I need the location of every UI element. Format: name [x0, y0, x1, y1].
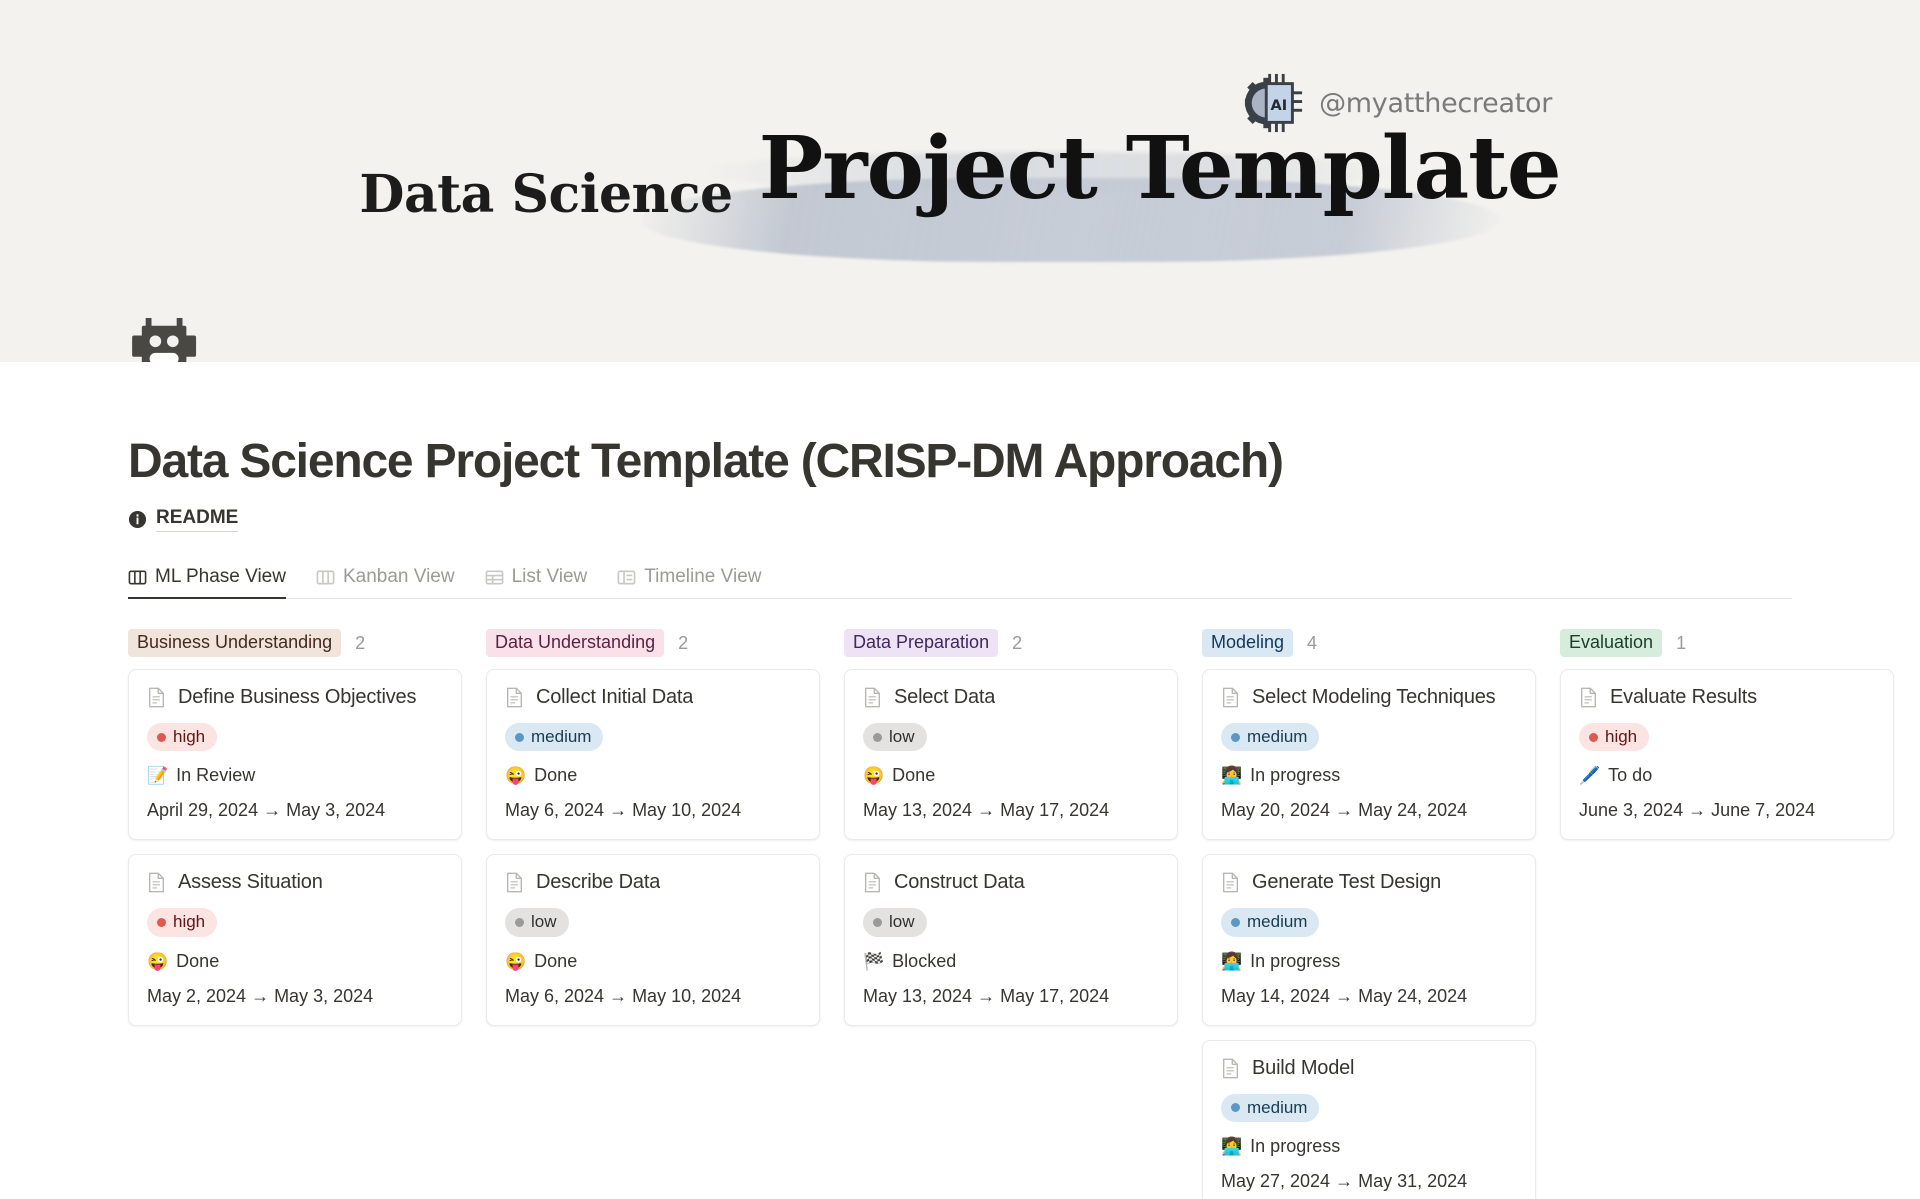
date-range[interactable]: May 6, 2024 → May 10, 2024 — [505, 800, 801, 821]
status-label: In Review — [176, 765, 255, 786]
document-icon — [1579, 687, 1598, 708]
date-range[interactable]: June 3, 2024 → June 7, 2024 — [1579, 800, 1875, 821]
status-emoji-icon: 🏁 — [863, 953, 884, 970]
robot-icon — [128, 318, 206, 362]
priority-dot-icon — [873, 918, 882, 927]
column-name-chip[interactable]: Business Understanding — [128, 629, 341, 657]
readme-label: README — [156, 507, 238, 532]
tab-label: Kanban View — [343, 566, 455, 588]
timeline-icon — [617, 568, 636, 587]
column-card-count: 4 — [1307, 633, 1317, 654]
date-range[interactable]: May 13, 2024 → May 17, 2024 — [863, 800, 1159, 821]
task-card[interactable]: Construct Datalow🏁BlockedMay 13, 2024 → … — [844, 854, 1178, 1025]
document-icon — [147, 872, 166, 893]
task-card[interactable]: Describe Datalow😜DoneMay 6, 2024 → May 1… — [486, 854, 820, 1025]
priority-dot-icon — [1231, 733, 1240, 742]
date-range[interactable]: May 6, 2024 → May 10, 2024 — [505, 986, 801, 1007]
task-card[interactable]: Build Modelmedium👩‍💻In progressMay 27, 2… — [1202, 1040, 1536, 1199]
task-title: Describe Data — [536, 871, 660, 894]
board-column: Data Preparation2Select Datalow😜DoneMay … — [844, 629, 1178, 1040]
priority-label: medium — [1247, 912, 1307, 932]
tab-label: List View — [512, 566, 588, 588]
status-row[interactable]: 👩‍💻In progress — [1221, 1136, 1517, 1157]
priority-label: low — [531, 912, 557, 932]
status-emoji-icon: 🖊️ — [1579, 767, 1600, 784]
priority-badge[interactable]: medium — [1221, 1094, 1319, 1122]
task-card-title-row: Select Data — [863, 686, 1159, 709]
task-card-title-row: Assess Situation — [147, 871, 443, 894]
task-card-title-row: Select Modeling Techniques — [1221, 686, 1517, 709]
task-title: Construct Data — [894, 871, 1025, 894]
date-range[interactable]: May 13, 2024 → May 17, 2024 — [863, 986, 1159, 1007]
status-emoji-icon: 👩‍💻 — [1221, 767, 1242, 784]
priority-dot-icon — [157, 733, 166, 742]
column-header: Data Understanding2 — [486, 629, 820, 657]
status-emoji-icon: 📝 — [147, 767, 168, 784]
priority-badge[interactable]: medium — [1221, 723, 1319, 751]
document-icon — [863, 872, 882, 893]
priority-dot-icon — [157, 918, 166, 927]
info-icon — [128, 510, 147, 529]
page-icon[interactable] — [128, 318, 206, 362]
task-card[interactable]: Collect Initial Datamedium😜DoneMay 6, 20… — [486, 669, 820, 840]
task-card-title-row: Evaluate Results — [1579, 686, 1875, 709]
task-card[interactable]: Generate Test Designmedium👩‍💻In progress… — [1202, 854, 1536, 1025]
priority-badge[interactable]: low — [863, 723, 927, 751]
task-card[interactable]: Assess Situationhigh😜DoneMay 2, 2024 → M… — [128, 854, 462, 1025]
task-title: Assess Situation — [178, 871, 323, 894]
task-card-title-row: Construct Data — [863, 871, 1159, 894]
svg-text:AI: AI — [1271, 98, 1288, 114]
priority-label: high — [173, 727, 205, 747]
date-range[interactable]: May 2, 2024 → May 3, 2024 — [147, 986, 443, 1007]
status-emoji-icon: 👩‍💻 — [1221, 1138, 1242, 1155]
status-row[interactable]: 🖊️To do — [1579, 765, 1875, 786]
task-title: Select Data — [894, 686, 995, 709]
board-column: Evaluation1Evaluate Resultshigh🖊️To doJu… — [1560, 629, 1894, 854]
page-cover-banner: AI @myatthecreator Data ScienceProject T… — [0, 0, 1920, 362]
column-name-chip[interactable]: Modeling — [1202, 629, 1293, 657]
column-header: Evaluation1 — [1560, 629, 1894, 657]
status-emoji-icon: 😜 — [505, 767, 526, 784]
document-icon — [863, 687, 882, 708]
priority-badge[interactable]: high — [147, 723, 217, 751]
task-card[interactable]: Evaluate Resultshigh🖊️To doJune 3, 2024 … — [1560, 669, 1894, 840]
tab-kanban-view[interactable]: Kanban View — [316, 566, 455, 598]
status-row[interactable]: 📝In Review — [147, 765, 443, 786]
task-title: Generate Test Design — [1252, 871, 1441, 894]
status-label: In progress — [1250, 951, 1340, 972]
status-label: Done — [534, 765, 577, 786]
column-card-count: 2 — [355, 633, 365, 654]
date-range[interactable]: May 14, 2024 → May 24, 2024 — [1221, 986, 1517, 1007]
priority-label: low — [889, 727, 915, 747]
tab-label: ML Phase View — [155, 566, 286, 588]
task-card-title-row: Collect Initial Data — [505, 686, 801, 709]
task-card-title-row: Describe Data — [505, 871, 801, 894]
priority-dot-icon — [1589, 733, 1598, 742]
column-header: Business Understanding2 — [128, 629, 462, 657]
status-row[interactable]: 👩‍💻In progress — [1221, 951, 1517, 972]
banner-title-small: Data Science — [359, 164, 732, 225]
document-icon — [147, 687, 166, 708]
board-column: Business Understanding2Define Business O… — [128, 629, 462, 1040]
tab-list-view[interactable]: List View — [485, 566, 588, 598]
priority-label: medium — [531, 727, 591, 747]
creator-handle-text: @myatthecreator — [1319, 88, 1552, 119]
priority-badge[interactable]: low — [505, 908, 569, 936]
ml-phase-board: Business Understanding2Define Business O… — [128, 629, 1828, 1199]
status-label: In progress — [1250, 765, 1340, 786]
board-columns-icon — [316, 568, 335, 587]
board-columns-icon — [128, 568, 147, 587]
column-card-count: 1 — [1676, 633, 1686, 654]
priority-badge[interactable]: high — [147, 908, 217, 936]
status-row[interactable]: 😜Done — [863, 765, 1159, 786]
task-card[interactable]: Select Modeling Techniquesmedium👩‍💻In pr… — [1202, 669, 1536, 840]
status-label: In progress — [1250, 1136, 1340, 1157]
column-card-count: 2 — [1012, 633, 1022, 654]
page-body: Data Science Project Template (CRISP-DM … — [0, 434, 1920, 1199]
board-column: Data Understanding2Collect Initial Datam… — [486, 629, 820, 1040]
priority-badge[interactable]: medium — [1221, 908, 1319, 936]
date-range[interactable]: April 29, 2024 → May 3, 2024 — [147, 800, 443, 821]
document-icon — [505, 872, 524, 893]
priority-dot-icon — [1231, 918, 1240, 927]
tab-label: Timeline View — [644, 566, 761, 588]
status-label: Done — [176, 951, 219, 972]
task-card-title-row: Build Model — [1221, 1057, 1517, 1080]
status-label: Blocked — [892, 951, 956, 972]
priority-badge[interactable]: medium — [505, 723, 603, 751]
status-row[interactable]: 🏁Blocked — [863, 951, 1159, 972]
date-range[interactable]: May 27, 2024 → May 31, 2024 — [1221, 1171, 1517, 1192]
readme-link[interactable]: README — [128, 507, 1920, 532]
task-card[interactable]: Select Datalow😜DoneMay 13, 2024 → May 17… — [844, 669, 1178, 840]
board-column: Modeling4Select Modeling Techniquesmediu… — [1202, 629, 1536, 1199]
task-title: Evaluate Results — [1610, 686, 1757, 709]
status-label: Done — [892, 765, 935, 786]
priority-dot-icon — [515, 733, 524, 742]
page-title: Data Science Project Template (CRISP-DM … — [128, 434, 1920, 489]
document-icon — [1221, 687, 1240, 708]
priority-label: medium — [1247, 727, 1307, 747]
table-grid-icon — [485, 568, 504, 587]
view-tabs: ML Phase View Kanban View List View — [128, 556, 1792, 599]
column-name-chip[interactable]: Data Understanding — [486, 629, 664, 657]
document-icon — [505, 687, 524, 708]
column-header: Data Preparation2 — [844, 629, 1178, 657]
priority-dot-icon — [1231, 1103, 1240, 1112]
date-range[interactable]: May 20, 2024 → May 24, 2024 — [1221, 800, 1517, 821]
task-title: Build Model — [1252, 1057, 1354, 1080]
status-row[interactable]: 😜Done — [505, 951, 801, 972]
task-title: Define Business Objectives — [178, 686, 416, 709]
banner-artwork: AI @myatthecreator Data ScienceProject T… — [0, 0, 1920, 362]
status-emoji-icon: 👩‍💻 — [1221, 953, 1242, 970]
status-row[interactable]: 👩‍💻In progress — [1221, 765, 1517, 786]
status-label: To do — [1608, 765, 1652, 786]
status-row[interactable]: 😜Done — [505, 765, 801, 786]
priority-badge[interactable]: low — [863, 908, 927, 936]
banner-title: Data ScienceProject Template — [0, 118, 1920, 225]
document-icon — [1221, 1058, 1240, 1079]
status-row[interactable]: 😜Done — [147, 951, 443, 972]
priority-label: high — [173, 912, 205, 932]
task-title: Select Modeling Techniques — [1252, 686, 1495, 709]
status-emoji-icon: 😜 — [147, 953, 168, 970]
tab-ml-phase-view[interactable]: ML Phase View — [128, 566, 286, 598]
banner-title-big: Project Template — [759, 118, 1561, 219]
priority-dot-icon — [873, 733, 882, 742]
tab-timeline-view[interactable]: Timeline View — [617, 566, 761, 598]
task-card-title-row: Generate Test Design — [1221, 871, 1517, 894]
column-card-count: 2 — [678, 633, 688, 654]
column-name-chip[interactable]: Data Preparation — [844, 629, 998, 657]
column-header: Modeling4 — [1202, 629, 1536, 657]
status-emoji-icon: 😜 — [863, 767, 884, 784]
status-label: Done — [534, 951, 577, 972]
column-name-chip[interactable]: Evaluation — [1560, 629, 1662, 657]
priority-label: medium — [1247, 1098, 1307, 1118]
priority-label: low — [889, 912, 915, 932]
task-card[interactable]: Define Business Objectiveshigh📝In Review… — [128, 669, 462, 840]
priority-badge[interactable]: high — [1579, 723, 1649, 751]
priority-label: high — [1605, 727, 1637, 747]
priority-dot-icon — [515, 918, 524, 927]
document-icon — [1221, 872, 1240, 893]
task-title: Collect Initial Data — [536, 686, 693, 709]
task-card-title-row: Define Business Objectives — [147, 686, 443, 709]
status-emoji-icon: 😜 — [505, 953, 526, 970]
